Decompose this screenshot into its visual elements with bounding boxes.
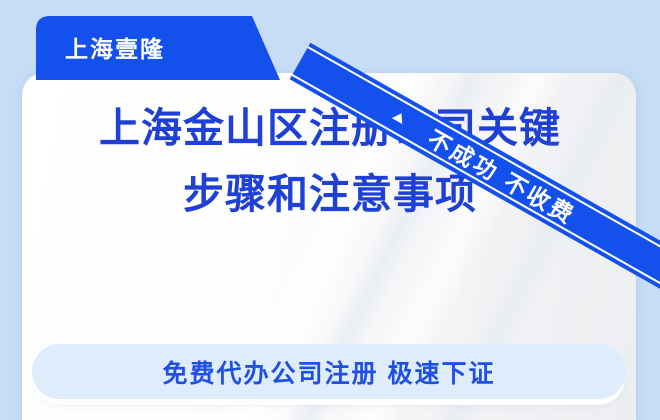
page-title-line-1: 上海金山区注册公司关键: [0, 95, 660, 161]
cta-bar-label: 免费代办公司注册 极速下证: [163, 354, 496, 390]
triangle-up-icon: [392, 110, 407, 124]
promo-poster: 上海壹隆 上海金山区注册公司关键 步骤和注意事项 免费代办公司注册 极速下证 不…: [0, 0, 660, 420]
brand-tab: 上海壹隆: [22, 14, 280, 80]
brand-tab-label: 上海壹隆: [65, 30, 165, 64]
cta-bar[interactable]: 免费代办公司注册 极速下证: [32, 344, 626, 399]
